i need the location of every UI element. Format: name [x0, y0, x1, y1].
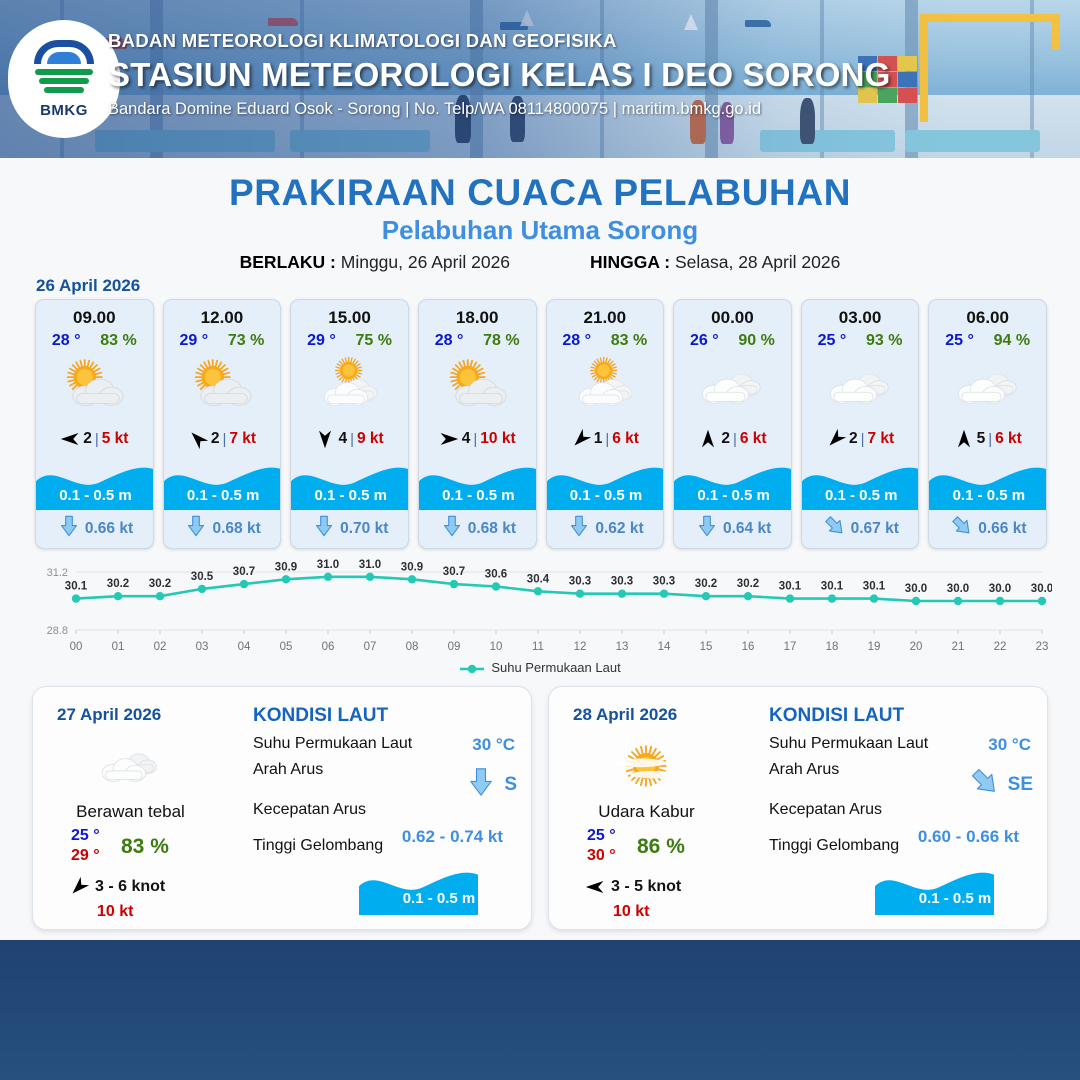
berlaku-group: BERLAKU : Minggu, 26 April 2026	[240, 252, 510, 273]
svg-text:19: 19	[868, 641, 881, 653]
card-wave-band: 0.1 - 0.5 m	[547, 462, 665, 510]
page-subtitle: Pelabuhan Utama Sorong	[0, 215, 1080, 246]
chart-legend: Suhu Permukaan Laut	[0, 660, 1080, 675]
svg-text:30.0: 30.0	[1031, 583, 1052, 595]
hourly-forecast-row: 09.00 28 ° 83 % 2 | 5 kt 0.1 - 0.5 m	[35, 299, 1047, 549]
card-wave-band: 0.1 - 0.5 m	[36, 462, 154, 510]
weather-berawan-tebal-icon	[674, 352, 791, 422]
header-banner: BMKG BADAN METEOROLOGI KLIMATOLOGI DAN G…	[0, 0, 1080, 158]
header-text-block: BADAN METEOROLOGI KLIMATOLOGI DAN GEOFIS…	[108, 30, 891, 119]
current-direction-group: S	[466, 767, 517, 802]
card-wave-band: 0.1 - 0.5 m	[419, 462, 537, 510]
card-wind: 5 | 6 kt	[929, 424, 1046, 454]
sst-chart-svg: 31.228.800010203040506070809101112131415…	[28, 556, 1052, 656]
current-speed-value: 0.67 kt	[851, 520, 899, 538]
card-current: 0.68 kt	[419, 515, 537, 542]
card-humidity: 75 %	[356, 332, 392, 350]
chart-legend-label: Suhu Permukaan Laut	[491, 660, 620, 675]
svg-text:08: 08	[406, 641, 419, 653]
card-wave-band: 0.1 - 0.5 m	[291, 462, 409, 510]
card-humidity: 90 %	[738, 332, 774, 350]
wave-height-value: 0.1 - 0.5 m	[36, 487, 154, 504]
svg-text:09: 09	[448, 641, 461, 653]
day-humidity: 86 %	[637, 835, 685, 859]
wave-height-label: Tinggi Gelombang	[769, 837, 899, 855]
day-temperature-group: 25 ° 29 °	[71, 827, 100, 865]
sea-condition-title: KONDISI LAUT	[253, 705, 525, 727]
svg-text:30.9: 30.9	[275, 561, 297, 573]
station-name: STASIUN METEOROLOGI KELAS I DEO SORONG	[108, 56, 891, 94]
sea-condition-panel: KONDISI LAUT Suhu Permukaan Laut 30 °C A…	[757, 705, 1041, 917]
svg-text:04: 04	[238, 641, 251, 653]
svg-text:20: 20	[910, 641, 923, 653]
card-temp-humidity: 25 ° 94 %	[929, 332, 1046, 350]
current-direction-arrow-icon	[441, 515, 463, 542]
current-speed-value: 0.62 - 0.74 kt	[402, 827, 503, 847]
sst-label: Suhu Permukaan Laut	[769, 735, 928, 753]
day-condition: Udara Kabur	[549, 802, 744, 822]
day-date: 28 April 2026	[573, 705, 677, 725]
weather-cerah-berawan-icon	[36, 352, 153, 422]
wind-speed-value: 6 kt	[995, 430, 1022, 448]
day-wind: 3 - 5 knot	[585, 877, 681, 897]
svg-text:03: 03	[196, 641, 209, 653]
sea-condition-panel: KONDISI LAUT Suhu Permukaan Laut 30 °C A…	[241, 705, 525, 917]
card-wind: 2 | 6 kt	[674, 424, 791, 454]
current-direction-arrow-icon	[696, 515, 718, 542]
hourly-forecast-card[interactable]: 15.00 29 ° 75 % 4 | 9 kt 0.1 - 0.5 m	[290, 299, 409, 549]
current-direction-arrow-icon	[824, 515, 846, 542]
svg-text:02: 02	[154, 641, 167, 653]
card-temp-humidity: 29 ° 75 %	[291, 332, 408, 350]
current-direction-value: SE	[1008, 774, 1033, 796]
card-current: 0.66 kt	[36, 515, 154, 542]
svg-text:18: 18	[826, 641, 839, 653]
current-direction-arrow-icon	[313, 515, 335, 542]
card-time: 21.00	[547, 308, 664, 328]
current-speed-value: 0.66 kt	[85, 520, 133, 538]
hourly-forecast-card[interactable]: 03.00 25 ° 93 % 2 | 7 kt 0.1 - 0.5 m	[801, 299, 920, 549]
wind-degree-value: 2	[83, 430, 92, 448]
svg-text:05: 05	[280, 641, 293, 653]
hourly-forecast-card[interactable]: 21.00 28 ° 83 % 1 | 6 kt 0.1 - 0.5 m	[546, 299, 665, 549]
hingga-label: HINGGA :	[590, 252, 670, 272]
wave-height-value: 0.1 - 0.5 m	[547, 487, 665, 504]
svg-text:15: 15	[700, 641, 713, 653]
card-time: 15.00	[291, 308, 408, 328]
card-temp-humidity: 25 ° 93 %	[802, 332, 919, 350]
day-wind-range: 3 - 5 knot	[611, 878, 681, 896]
card-current: 0.62 kt	[547, 515, 665, 542]
chart-legend-marker-icon	[459, 664, 485, 674]
current-speed-value: 0.68 kt	[212, 520, 260, 538]
card-temp-humidity: 29 ° 73 %	[164, 332, 281, 350]
legend-footer: LEGENDA Dari Atas Kiri : Waktu, Suhu Uda…	[0, 940, 1080, 1080]
card-time: 09.00	[36, 308, 153, 328]
weather-berawan-tebal-icon	[85, 735, 175, 797]
card-current: 0.66 kt	[929, 515, 1047, 542]
svg-text:28.8: 28.8	[47, 625, 68, 637]
day-condition: Berawan tebal	[33, 802, 228, 822]
wind-degree-value: 4	[462, 430, 471, 448]
card-wind: 1 | 6 kt	[547, 424, 664, 454]
card-time: 18.00	[419, 308, 536, 328]
svg-text:30.3: 30.3	[611, 576, 633, 588]
wave-height-band: 0.1 - 0.5 m	[359, 863, 519, 915]
card-humidity: 73 %	[228, 332, 264, 350]
wind-direction-arrow-icon	[188, 429, 208, 449]
wave-height-value: 0.1 - 0.5 m	[359, 890, 519, 907]
card-time: 12.00	[164, 308, 281, 328]
wind-degree-value: 2	[721, 430, 730, 448]
card-current: 0.67 kt	[802, 515, 920, 542]
wind-degree-value: 2	[211, 430, 220, 448]
agency-name: BADAN METEOROLOGI KLIMATOLOGI DAN GEOFIS…	[108, 30, 891, 52]
weather-cerah-berawan-icon	[419, 352, 536, 422]
wind-speed-value: 5 kt	[102, 430, 129, 448]
card-time: 00.00	[674, 308, 791, 328]
wind-direction-arrow-icon	[571, 429, 591, 449]
current-direction-arrow-icon	[970, 767, 1000, 802]
sea-condition-title: KONDISI LAUT	[769, 705, 1041, 727]
card-humidity: 83 %	[100, 332, 136, 350]
wind-direction-arrow-icon	[315, 429, 335, 449]
infographic-page: BMKG BADAN METEOROLOGI KLIMATOLOGI DAN G…	[0, 0, 1080, 1080]
card-time: 03.00	[802, 308, 919, 328]
svg-text:06: 06	[322, 641, 335, 653]
weather-cerah-berawan-icon	[164, 352, 281, 422]
svg-text:30.2: 30.2	[149, 578, 171, 590]
weather-berawan-icon	[291, 352, 408, 422]
card-wave-band: 0.1 - 0.5 m	[929, 462, 1047, 510]
wave-height-value: 0.1 - 0.5 m	[875, 890, 1035, 907]
wind-separator: |	[605, 431, 609, 448]
card-wind: 2 | 5 kt	[36, 424, 153, 454]
svg-text:30.0: 30.0	[905, 583, 927, 595]
hourly-forecast-card[interactable]: 00.00 26 ° 90 % 2 | 6 kt 0.1 - 0.5 m	[673, 299, 792, 549]
card-time: 06.00	[929, 308, 1046, 328]
wind-direction-arrow-icon	[826, 429, 846, 449]
svg-text:30.1: 30.1	[821, 581, 844, 593]
card-temp-humidity: 28 ° 83 %	[547, 332, 664, 350]
svg-text:30.7: 30.7	[443, 566, 465, 578]
weather-berawan-icon	[547, 352, 664, 422]
day-wind-range: 3 - 6 knot	[95, 878, 165, 896]
svg-text:07: 07	[364, 641, 377, 653]
wind-speed-value: 7 kt	[229, 430, 256, 448]
current-speed-value: 0.62 kt	[595, 520, 643, 538]
hourly-forecast-card[interactable]: 09.00 28 ° 83 % 2 | 5 kt 0.1 - 0.5 m	[35, 299, 154, 549]
card-wind: 2 | 7 kt	[164, 424, 281, 454]
logo-waves-icon	[35, 67, 93, 101]
current-direction-arrow-icon	[466, 767, 496, 802]
wind-speed-value: 6 kt	[612, 430, 639, 448]
svg-text:21: 21	[952, 641, 965, 653]
berlaku-value: Minggu, 26 April 2026	[341, 252, 510, 272]
current-speed-value: 0.60 - 0.66 kt	[918, 827, 1019, 847]
wave-height-value: 0.1 - 0.5 m	[929, 487, 1047, 504]
svg-text:30.3: 30.3	[569, 576, 591, 588]
svg-text:30.1: 30.1	[65, 581, 88, 593]
current-direction-group: SE	[970, 767, 1033, 802]
wind-direction-arrow-icon	[439, 429, 459, 449]
svg-text:30.2: 30.2	[695, 578, 717, 590]
daily-forecast-row: 27 April 2026 Berawan tebal 25 ° 29 ° 83…	[32, 686, 1048, 930]
wind-direction-arrow-icon	[698, 429, 718, 449]
svg-text:11: 11	[532, 641, 544, 653]
hingga-group: HINGGA : Selasa, 28 April 2026	[590, 252, 840, 273]
daily-forecast-card[interactable]: 27 April 2026 Berawan tebal 25 ° 29 ° 83…	[32, 686, 532, 930]
wind-degree-value: 4	[338, 430, 347, 448]
sst-chart: 31.228.800010203040506070809101112131415…	[28, 556, 1052, 656]
svg-text:30.4: 30.4	[527, 573, 550, 585]
wind-separator: |	[473, 431, 477, 448]
current-direction-value: S	[504, 774, 517, 796]
card-wave-band: 0.1 - 0.5 m	[674, 462, 792, 510]
svg-text:30.9: 30.9	[401, 561, 423, 573]
card-wind: 4 | 9 kt	[291, 424, 408, 454]
berlaku-label: BERLAKU :	[240, 252, 336, 272]
card-temp-humidity: 28 ° 78 %	[419, 332, 536, 350]
card-humidity: 78 %	[483, 332, 519, 350]
wind-direction-arrow-icon	[585, 877, 605, 897]
wind-separator: |	[861, 431, 865, 448]
wind-degree-value: 5	[977, 430, 986, 448]
card-wind: 4 | 10 kt	[419, 424, 536, 454]
svg-text:30.0: 30.0	[947, 583, 969, 595]
card-temp-humidity: 26 ° 90 %	[674, 332, 791, 350]
day-temp-min: 25 °	[587, 827, 616, 845]
logo-text: BMKG	[40, 102, 88, 119]
current-direction-label: Arah Arus	[769, 761, 839, 779]
svg-text:00: 00	[70, 641, 83, 653]
day-temp-max: 29 °	[71, 847, 100, 865]
wind-speed-value: 10 kt	[480, 430, 515, 448]
page-title: PRAKIRAAN CUACA PELABUHAN	[0, 172, 1080, 214]
svg-text:16: 16	[742, 641, 755, 653]
card-temperature: 29 °	[307, 332, 336, 350]
card-humidity: 93 %	[866, 332, 902, 350]
wave-height-value: 0.1 - 0.5 m	[164, 487, 282, 504]
wind-speed-value: 7 kt	[867, 430, 894, 448]
weather-berawan-tebal-icon	[929, 352, 1046, 422]
current-direction-arrow-icon	[185, 515, 207, 542]
card-temperature: 28 °	[52, 332, 81, 350]
wind-separator: |	[350, 431, 354, 448]
card-current: 0.64 kt	[674, 515, 792, 542]
hingga-value: Selasa, 28 April 2026	[675, 252, 840, 272]
day-humidity: 83 %	[121, 835, 169, 859]
card-humidity: 94 %	[994, 332, 1030, 350]
svg-text:30.1: 30.1	[779, 581, 802, 593]
wave-height-label: Tinggi Gelombang	[253, 837, 383, 855]
current-speed-label: Kecepatan Arus	[769, 801, 882, 819]
current-speed-label: Kecepatan Arus	[253, 801, 366, 819]
card-humidity: 83 %	[611, 332, 647, 350]
day-temp-min: 25 °	[71, 827, 100, 845]
card-temperature: 26 °	[690, 332, 719, 350]
svg-text:30.6: 30.6	[485, 569, 507, 581]
wind-degree-value: 1	[594, 430, 603, 448]
svg-text:13: 13	[616, 641, 629, 653]
card-temperature: 28 °	[435, 332, 464, 350]
svg-text:22: 22	[994, 641, 1007, 653]
card-current: 0.70 kt	[291, 515, 409, 542]
daily-forecast-card[interactable]: 28 April 2026 Udara Kabur 25 ° 30 ° 86 %…	[548, 686, 1048, 930]
contact-line: Bandara Domine Eduard Osok - Sorong | No…	[108, 100, 891, 119]
current-direction-arrow-icon	[568, 515, 590, 542]
sst-value: 30 °C	[988, 735, 1031, 755]
card-current: 0.68 kt	[164, 515, 282, 542]
wind-separator: |	[988, 431, 992, 448]
wind-speed-value: 6 kt	[740, 430, 767, 448]
current-direction-arrow-icon	[58, 515, 80, 542]
card-temperature: 29 °	[180, 332, 209, 350]
svg-text:30.3: 30.3	[653, 576, 675, 588]
wind-degree-value: 2	[849, 430, 858, 448]
svg-text:17: 17	[784, 641, 797, 653]
wave-height-band: 0.1 - 0.5 m	[875, 863, 1035, 915]
card-temperature: 25 °	[818, 332, 847, 350]
day-temp-max: 30 °	[587, 847, 616, 865]
card-wave-band: 0.1 - 0.5 m	[164, 462, 282, 510]
weather-berawan-tebal-icon	[802, 352, 919, 422]
current-speed-value: 0.66 kt	[978, 520, 1026, 538]
bmkg-logo: BMKG	[8, 20, 120, 138]
svg-text:23: 23	[1036, 641, 1049, 653]
svg-text:30.1: 30.1	[863, 581, 886, 593]
svg-text:30.7: 30.7	[233, 566, 255, 578]
hourly-forecast-card[interactable]: 06.00 25 ° 94 % 5 | 6 kt 0.1 - 0.5 m	[928, 299, 1047, 549]
wave-height-value: 0.1 - 0.5 m	[291, 487, 409, 504]
validity-row: BERLAKU : Minggu, 26 April 2026 HINGGA :…	[0, 252, 1080, 273]
card-wave-band: 0.1 - 0.5 m	[802, 462, 920, 510]
svg-text:30.2: 30.2	[737, 578, 759, 590]
wind-separator: |	[733, 431, 737, 448]
hourly-date-label: 26 April 2026	[36, 276, 140, 296]
wave-height-value: 0.1 - 0.5 m	[802, 487, 920, 504]
svg-text:30.0: 30.0	[989, 583, 1011, 595]
svg-text:14: 14	[658, 641, 671, 653]
sst-value: 30 °C	[472, 735, 515, 755]
svg-text:01: 01	[112, 641, 125, 653]
weather-udara-kabur-icon	[601, 735, 691, 797]
sst-label: Suhu Permukaan Laut	[253, 735, 412, 753]
current-direction-label: Arah Arus	[253, 761, 323, 779]
day-temperature-group: 25 ° 30 °	[587, 827, 616, 865]
wave-height-value: 0.1 - 0.5 m	[674, 487, 792, 504]
card-temp-humidity: 28 ° 83 %	[36, 332, 153, 350]
wind-direction-arrow-icon	[60, 429, 80, 449]
logo-arcs-icon	[34, 40, 94, 66]
day-wind: 3 - 6 knot	[69, 877, 165, 897]
current-speed-value: 0.70 kt	[340, 520, 388, 538]
current-direction-arrow-icon	[951, 515, 973, 542]
wind-speed-value: 9 kt	[357, 430, 384, 448]
svg-text:31.0: 31.0	[359, 559, 381, 571]
card-temperature: 28 °	[562, 332, 591, 350]
wind-separator: |	[222, 431, 226, 448]
wind-direction-arrow-icon	[69, 877, 89, 897]
svg-text:31.2: 31.2	[47, 567, 68, 579]
wind-direction-arrow-icon	[954, 429, 974, 449]
current-speed-value: 0.64 kt	[723, 520, 771, 538]
day-date: 27 April 2026	[57, 705, 161, 725]
current-speed-value: 0.68 kt	[468, 520, 516, 538]
hourly-forecast-card[interactable]: 12.00 29 ° 73 % 2 | 7 kt 0.1 - 0.5 m	[163, 299, 282, 549]
current-speed-row: Kecepatan Arus	[769, 801, 1041, 819]
hourly-forecast-card[interactable]: 18.00 28 ° 78 % 4 | 10 kt 0.1 - 0.5 m	[418, 299, 537, 549]
day-gust-value: 10 kt	[613, 903, 649, 921]
wave-height-value: 0.1 - 0.5 m	[419, 487, 537, 504]
svg-text:12: 12	[574, 641, 587, 653]
current-speed-row: Kecepatan Arus	[253, 801, 525, 819]
card-wind: 2 | 7 kt	[802, 424, 919, 454]
svg-text:30.2: 30.2	[107, 578, 129, 590]
svg-text:31.0: 31.0	[317, 559, 339, 571]
svg-text:30.5: 30.5	[191, 571, 214, 583]
wind-separator: |	[95, 431, 99, 448]
card-temperature: 25 °	[945, 332, 974, 350]
day-gust-value: 10 kt	[97, 903, 133, 921]
svg-text:10: 10	[490, 641, 503, 653]
